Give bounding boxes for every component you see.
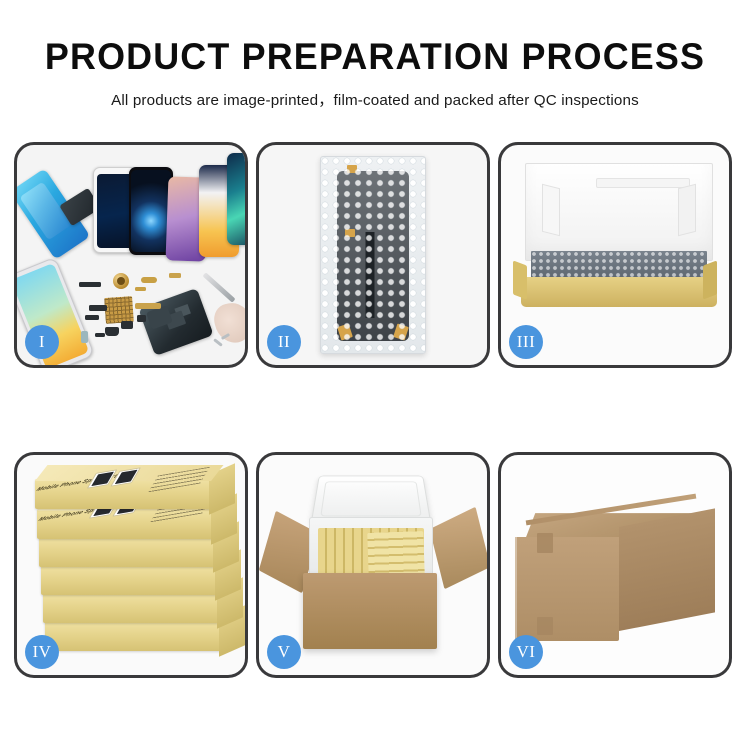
connector-part-b — [85, 315, 99, 320]
kraft-flap-right — [703, 260, 717, 299]
lid-tab — [596, 178, 690, 188]
carton-side-face — [619, 508, 715, 631]
box-label-1: Mobile Phone Spare Parts — [24, 465, 223, 495]
ribbon-cable-part — [135, 303, 161, 309]
retail-box-stack: Mobile Phone Spare Parts Mobile Phone Sp… — [29, 473, 237, 665]
step-badge-2: II — [267, 325, 301, 359]
retail-box-2: Mobile Phone Spare Parts — [37, 509, 213, 539]
process-step-2[interactable]: II — [256, 142, 490, 368]
process-step-6[interactable]: VI — [498, 452, 732, 678]
box-top-face: Mobile Phone Spare Parts — [35, 465, 224, 481]
sim-tray-part — [81, 331, 88, 343]
flex-cable-part-b — [135, 287, 146, 291]
retail-box-bottom — [45, 621, 221, 651]
white-box-lid — [525, 163, 713, 261]
process-step-4[interactable]: Mobile Phone Spare Parts Mobile Phone Sp… — [14, 452, 248, 678]
vibration-motor-part — [105, 327, 119, 336]
label-spec-lines — [148, 467, 210, 493]
ic-chip-part — [121, 321, 133, 329]
packed-boxes-row-b — [367, 531, 425, 577]
carton-front-face — [515, 537, 619, 641]
flex-cable-part-a — [141, 277, 157, 283]
kraft-box-front-panel — [521, 277, 717, 307]
retail-box-3 — [39, 537, 215, 567]
carton-front-edge — [515, 537, 517, 641]
earpiece-part — [79, 282, 101, 287]
gold-contact-part — [169, 273, 181, 278]
lid-flap-right — [678, 184, 696, 236]
bubble-wrapped-contents — [531, 251, 707, 279]
page-subtitle: All products are image-printed，film-coat… — [0, 88, 750, 110]
process-step-3[interactable]: III — [498, 142, 732, 368]
screw-mat-part — [104, 296, 134, 324]
retail-box-top: Mobile Phone Spare Parts — [35, 479, 211, 509]
connector-part-a — [89, 305, 107, 311]
speaker-module-part — [113, 273, 129, 289]
page-title: PRODUCT PREPARATION PROCESS — [11, 38, 739, 77]
camera-module-part — [137, 315, 146, 322]
carton-tape-bottom — [537, 617, 553, 635]
step-badge-5: V — [267, 635, 301, 669]
step-badge-4: IV — [25, 635, 59, 669]
process-step-5[interactable]: V — [256, 452, 490, 678]
page-header: PRODUCT PREPARATION PROCESS All products… — [0, 0, 750, 110]
step-badge-1: I — [25, 325, 59, 359]
process-step-1[interactable]: I — [14, 142, 248, 368]
retail-box-4 — [41, 565, 217, 595]
phone-back-housing — [138, 288, 213, 356]
carton-flap-right — [430, 507, 487, 590]
lid-flap-left — [542, 184, 560, 236]
shipping-carton-open — [303, 573, 437, 649]
kraft-flap-left — [513, 260, 527, 299]
bubble-texture-overlay — [321, 157, 425, 353]
screwdriver-tool — [202, 272, 235, 302]
retail-box-5 — [43, 593, 219, 623]
product-preparation-process-page: PRODUCT PREPARATION PROCESS All products… — [0, 0, 750, 750]
teal-phone-display — [227, 153, 245, 245]
process-step-grid: I II — [14, 142, 736, 678]
step-badge-3: III — [509, 325, 543, 359]
antenna-strip-part — [95, 333, 105, 337]
bubble-wrap-bag — [320, 156, 426, 354]
carton-tape-top — [537, 533, 553, 553]
step-badge-6: VI — [509, 635, 543, 669]
